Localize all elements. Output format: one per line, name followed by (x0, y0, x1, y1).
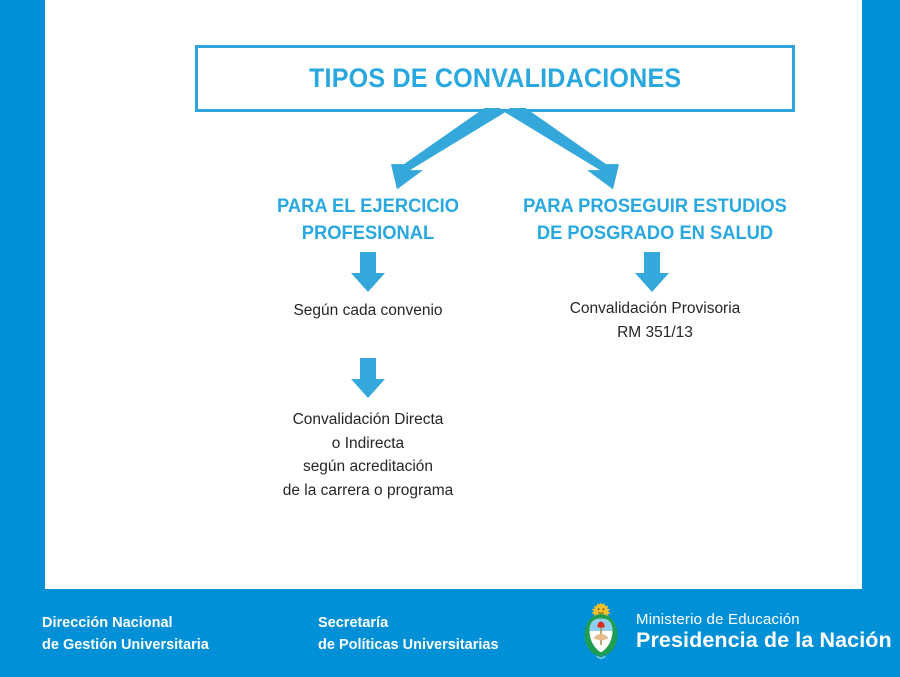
slide-canvas: TIPOS DE CONVALIDACIONES PARA EL EJERCIC… (0, 0, 900, 677)
presidency-name: Presidencia de la Nación (636, 628, 892, 652)
footer-org-2-line1: Secretaría (318, 612, 499, 634)
branch-left-step-1-line1: Según cada convenio (248, 299, 488, 323)
branch-right-step-1: Convalidación Provisoria RM 351/13 (515, 297, 795, 344)
page-title: TIPOS DE CONVALIDACIONES (309, 63, 681, 94)
fork-arrows-icon (375, 108, 635, 194)
branch-heading-right: PARA PROSEGUIR ESTUDIOS DE POSGRADO EN S… (505, 193, 806, 247)
branch-left-step-1: Según cada convenio (248, 299, 488, 323)
branch-heading-left-line2: PROFESIONAL (255, 220, 481, 247)
footer-org-1-line1: Dirección Nacional (42, 612, 209, 634)
arrow-shaft (644, 252, 660, 274)
branch-heading-right-line1: PARA PROSEGUIR ESTUDIOS (505, 193, 806, 220)
arrow-shaft (360, 358, 376, 380)
content-panel: TIPOS DE CONVALIDACIONES PARA EL EJERCIC… (45, 0, 862, 589)
down-arrow-icon-right-1 (635, 252, 669, 292)
down-arrow-icon-left-1 (351, 252, 385, 292)
footer-bar: Dirección Nacional de Gestión Universita… (0, 589, 900, 677)
footer-org-1-line2: de Gestión Universitaria (42, 634, 209, 656)
ministry-logo-text: Ministerio de Educación Presidencia de l… (636, 612, 892, 653)
ministry-name: Ministerio de Educación (636, 612, 892, 629)
argentina-coat-of-arms-icon (578, 601, 624, 663)
branch-right-step-1-line1: Convalidación Provisoria (515, 297, 795, 321)
branch-left-step-2-line2: o Indirecta (228, 432, 508, 456)
footer-org-direccion-nacional: Dirección Nacional de Gestión Universita… (42, 612, 209, 656)
arrow-head (351, 273, 385, 292)
branch-left-step-2: Convalidación Directa o Indirecta según … (228, 408, 508, 502)
down-arrow-icon-left-2 (351, 358, 385, 398)
branch-heading-right-line2: DE POSGRADO EN SALUD (505, 220, 806, 247)
branch-left-step-2-line1: Convalidación Directa (228, 408, 508, 432)
footer-org-2-line2: de Políticas Universitarias (318, 634, 499, 656)
arrow-head (351, 379, 385, 398)
branch-heading-left: PARA EL EJERCICIO PROFESIONAL (255, 193, 481, 247)
branch-heading-left-line1: PARA EL EJERCICIO (255, 193, 481, 220)
arrow-shaft (360, 252, 376, 274)
footer-org-secretaria: Secretaría de Políticas Universitarias (318, 612, 499, 656)
branch-left-step-2-line3: según acreditación (228, 455, 508, 479)
ministry-logo: Ministerio de Educación Presidencia de l… (578, 601, 892, 663)
branch-left-step-2-line4: de la carrera o programa (228, 479, 508, 503)
branch-right-step-1-line2: RM 351/13 (515, 321, 795, 345)
arrow-head (635, 273, 669, 292)
title-box: TIPOS DE CONVALIDACIONES (195, 45, 795, 112)
